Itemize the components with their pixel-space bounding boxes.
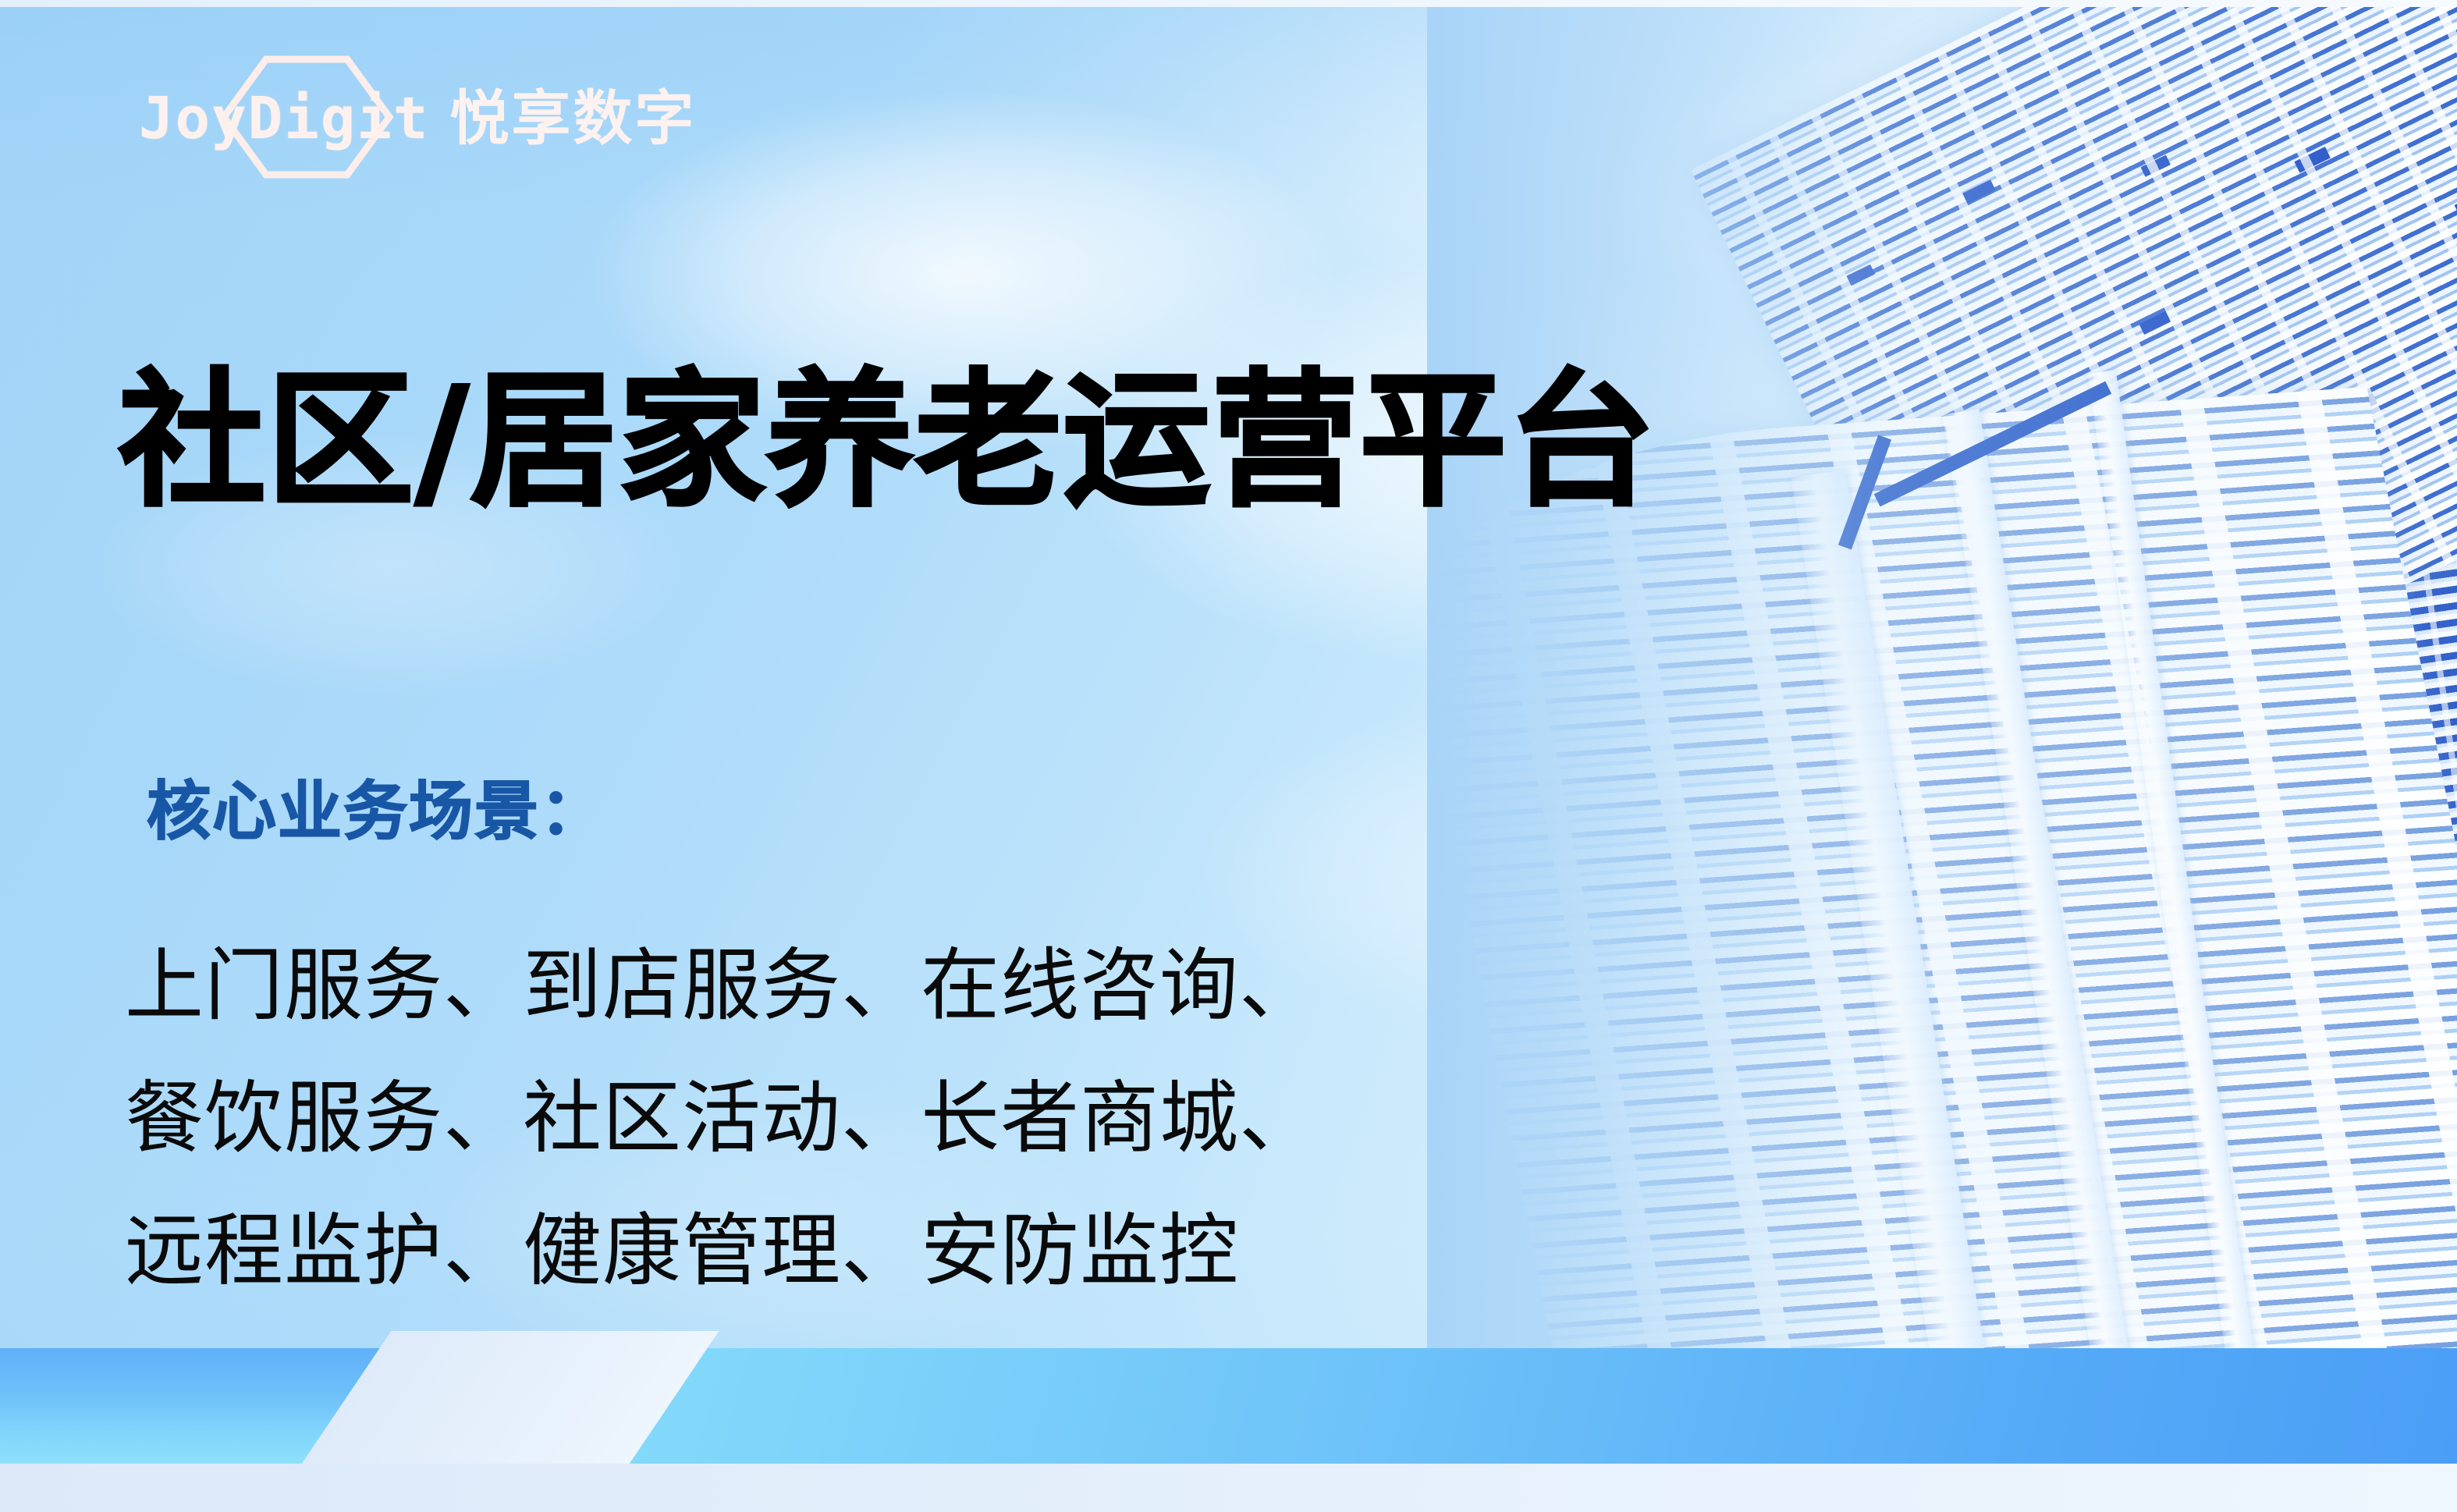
brand-logo-chinese: 悦享数字 xyxy=(449,89,696,148)
top-edge-strip xyxy=(0,0,2457,7)
page-title: 社区/居家养老运营平台 xyxy=(119,362,1656,520)
slide-canvas: JoyDigit 悦享数字 社区/居家养老运营平台 核心业务场景： 上门服务、到… xyxy=(0,0,2457,1512)
brand-logo[interactable]: JoyDigit 悦享数字 xyxy=(139,72,696,165)
brand-logo-latin: JoyDigit xyxy=(139,90,429,147)
scenario-line: 上门服务、到店服务、在线咨询、 xyxy=(125,919,1319,1052)
scenario-line: 远程监护、健康管理、安防监控 xyxy=(125,1184,1319,1317)
bottom-decoration xyxy=(0,1348,2457,1512)
bottom-footer-strip xyxy=(0,1464,2457,1512)
section-label: 核心业务场景： xyxy=(147,780,605,844)
bottom-band-blue-right xyxy=(570,1348,2457,1464)
scenario-list: 上门服务、到店服务、在线咨询、 餐饮服务、社区活动、长者商城、 远程监护、健康管… xyxy=(125,919,1319,1317)
scenario-line: 餐饮服务、社区活动、长者商城、 xyxy=(125,1052,1319,1184)
